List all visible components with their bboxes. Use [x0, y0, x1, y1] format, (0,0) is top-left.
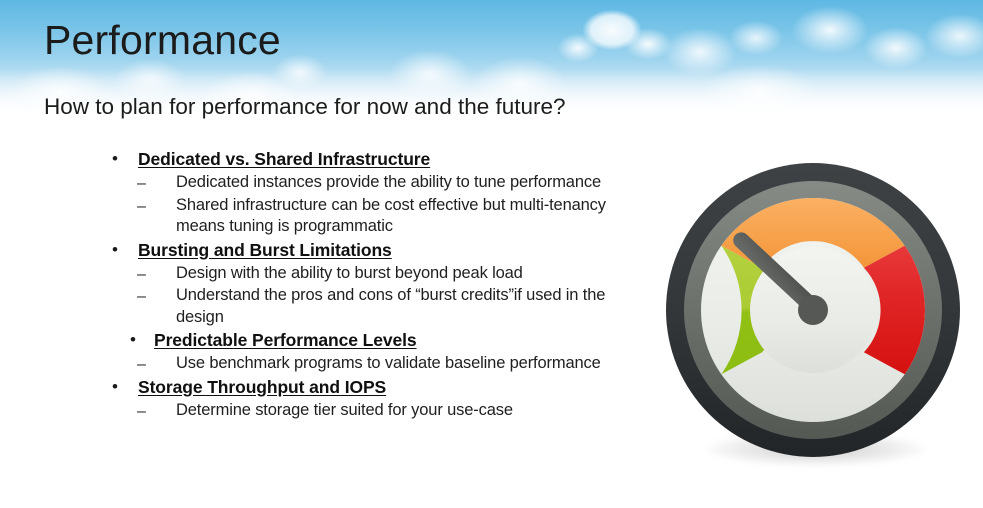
- bullet-level2: – Determine storage tier suited for your…: [34, 400, 634, 422]
- bullet-dash-icon: –: [137, 400, 146, 423]
- bullet-level2-label: Use benchmark programs to validate basel…: [176, 353, 626, 375]
- bullet-level1-label: Dedicated vs. Shared Infrastructure: [138, 149, 430, 169]
- bullet-level1-label: Bursting and Burst Limitations: [138, 240, 392, 260]
- bullet-level2: – Design with the ability to burst beyon…: [34, 263, 634, 285]
- bullet-level1-label: Storage Throughput and IOPS: [138, 377, 386, 397]
- bullet-dot-icon: •: [112, 148, 118, 170]
- bullet-level1-label: Predictable Performance Levels: [154, 330, 417, 350]
- bullet-level2-label: Determine storage tier suited for your u…: [176, 400, 626, 422]
- gauge-svg: [655, 140, 975, 490]
- page-title: Performance: [44, 14, 281, 66]
- gauge-needle-pivot: [798, 295, 828, 325]
- bullet-level2: – Shared infrastructure can be cost effe…: [34, 195, 634, 238]
- bullet-dot-icon: •: [112, 376, 118, 398]
- bullet-level2: – Dedicated instances provide the abilit…: [34, 172, 634, 194]
- performance-gauge-image: [655, 140, 975, 490]
- bullet-dot-icon: •: [130, 329, 136, 351]
- bullet-dash-icon: –: [137, 263, 146, 286]
- bullet-level2-label: Understand the pros and cons of “burst c…: [176, 285, 626, 328]
- bullet-level1: • Bursting and Burst Limitations: [34, 239, 634, 262]
- bullet-dot-icon: •: [112, 239, 118, 261]
- bullet-dash-icon: –: [137, 285, 146, 308]
- bullet-dash-icon: –: [137, 353, 146, 376]
- bullet-level2-label: Dedicated instances provide the ability …: [176, 172, 626, 194]
- bullet-dash-icon: –: [137, 195, 146, 218]
- bullet-level2: – Use benchmark programs to validate bas…: [34, 353, 634, 375]
- bullet-level1: • Predictable Performance Levels: [34, 329, 634, 352]
- bullet-level2: – Understand the pros and cons of “burst…: [34, 285, 634, 328]
- bullet-level1: • Dedicated vs. Shared Infrastructure: [34, 148, 634, 171]
- bullet-level1: • Storage Throughput and IOPS: [34, 376, 634, 399]
- slide-canvas: Performance How to plan for performance …: [0, 0, 983, 508]
- bullet-level2-label: Design with the ability to burst beyond …: [176, 263, 626, 285]
- bullet-dash-icon: –: [137, 172, 146, 195]
- bullet-level2-label: Shared infrastructure can be cost effect…: [176, 195, 626, 238]
- page-subtitle: How to plan for performance for now and …: [44, 92, 566, 122]
- bullet-list: • Dedicated vs. Shared Infrastructure – …: [34, 148, 634, 422]
